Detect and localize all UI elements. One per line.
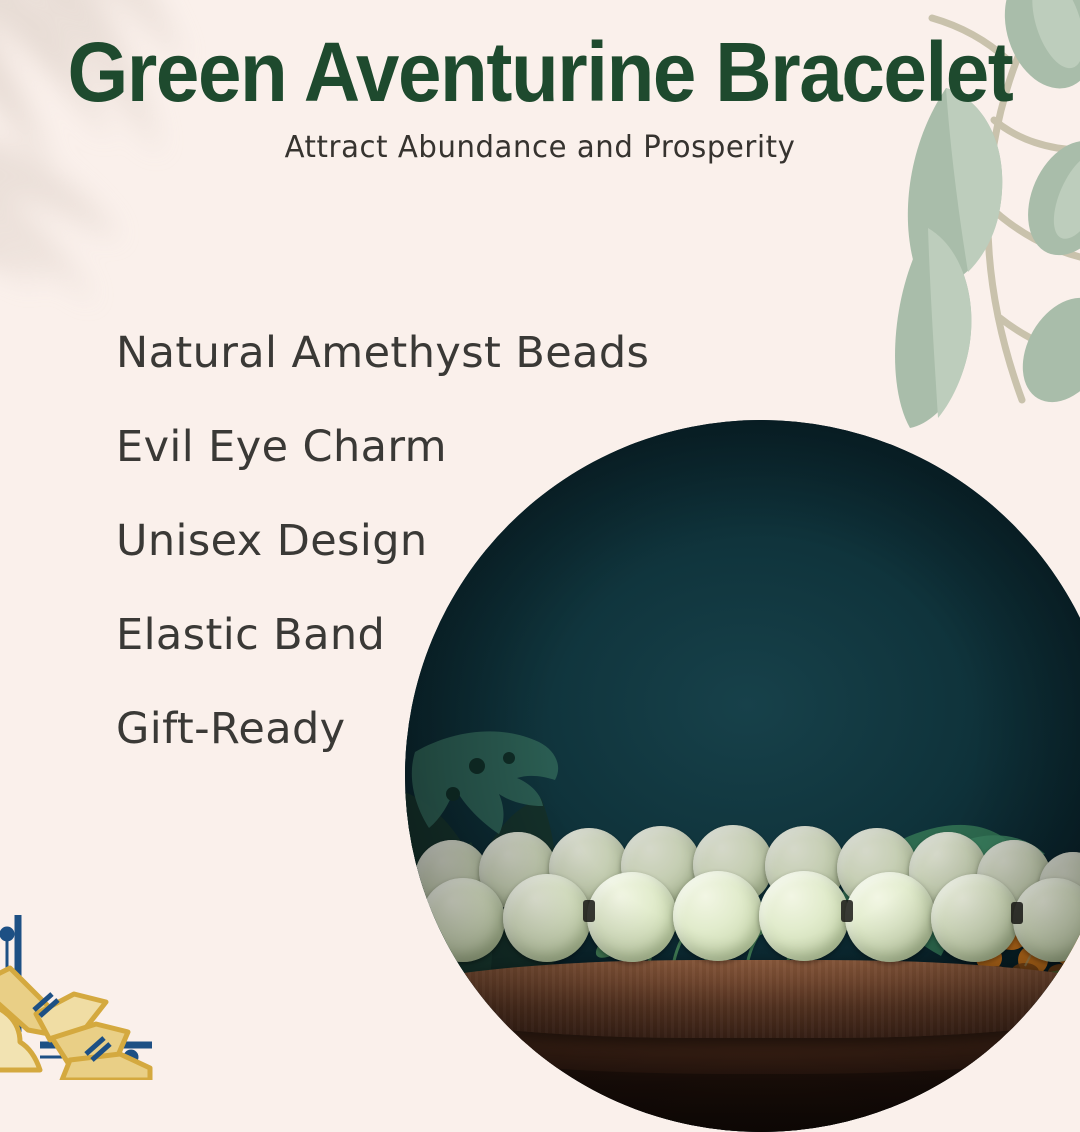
- poster-canvas: Green Aventurine Bracelet Attract Abunda…: [0, 0, 1080, 1080]
- header: Green Aventurine Bracelet Attract Abunda…: [0, 0, 1080, 165]
- product-photo: [405, 420, 1080, 1132]
- feature-item: Natural Amethyst Beads: [116, 332, 596, 375]
- gold-navy-corner-ornament: [0, 910, 200, 1080]
- photo-vignette: [405, 420, 1080, 1132]
- page-title: Green Aventurine Bracelet: [38, 0, 1042, 114]
- page-subtitle: Attract Abundance and Prosperity: [16, 114, 1064, 165]
